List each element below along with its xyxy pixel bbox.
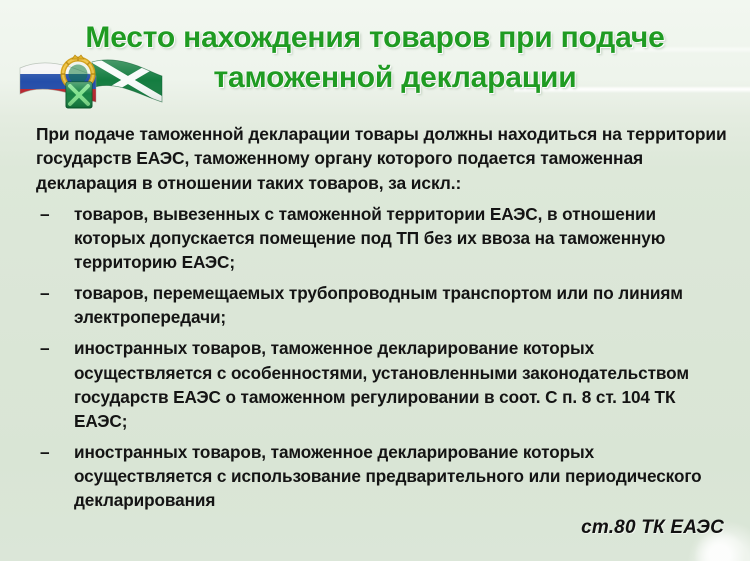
title-decorative-rule [514, 86, 750, 93]
list-item-text: товаров, вывезенных с таможенной террито… [74, 204, 665, 272]
list-item: – товаров, перемещаемых трубопроводным т… [36, 281, 728, 329]
customs-emblem-graphic [14, 52, 166, 114]
slide-canvas: Место нахождения товаров при подаче тамо… [0, 0, 750, 561]
slide-footer: ст.80 ТК ЕАЭС [581, 517, 724, 539]
list-item-text: товаров, перемещаемых трубопроводным тра… [74, 283, 683, 327]
legal-citation: ст.80 ТК ЕАЭС [581, 517, 724, 538]
bullet-dash-icon: – [40, 281, 49, 305]
title-decorative-rule-upper [630, 46, 750, 53]
bullet-dash-icon: – [40, 336, 49, 360]
emblem-svg [14, 52, 166, 114]
slide-body: При подаче таможенной декларации товары … [0, 122, 750, 512]
bullet-dash-icon: – [40, 440, 49, 464]
bullet-dash-icon: – [40, 202, 49, 226]
exceptions-list: – товаров, вывезенных с таможенной терри… [36, 202, 728, 512]
customs-wreath-emblem-icon [61, 55, 95, 108]
intro-paragraph: При подаче таможенной декларации товары … [36, 122, 728, 195]
list-item-text: иностранных товаров, таможенное декларир… [74, 442, 702, 510]
list-item: – иностранных товаров, таможенное деклар… [36, 440, 728, 512]
slide-header: Место нахождения товаров при подаче тамо… [0, 0, 750, 122]
list-item-text: иностранных товаров, таможенное декларир… [74, 338, 689, 430]
list-item: – товаров, вывезенных с таможенной терри… [36, 202, 728, 274]
list-item: – иностранных товаров, таможенное деклар… [36, 336, 728, 432]
